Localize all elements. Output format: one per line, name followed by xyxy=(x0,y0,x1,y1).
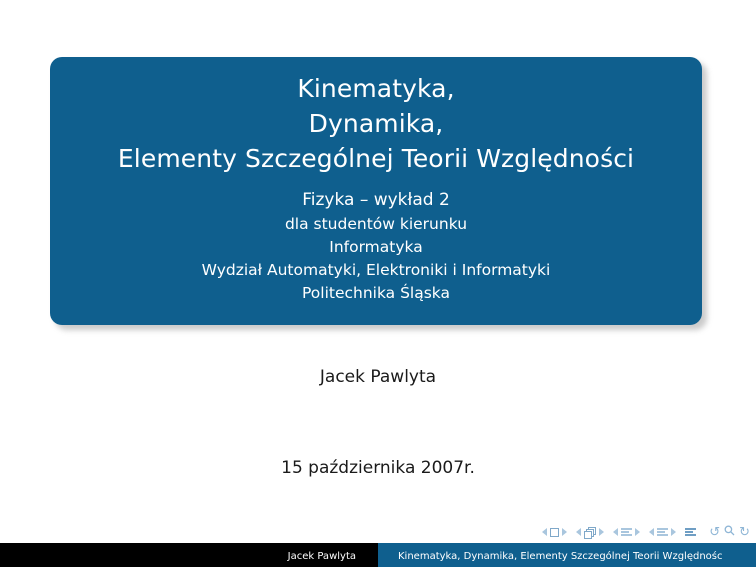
title-line-1: Kinematyka, xyxy=(50,71,702,106)
title-box: Kinematyka, Dynamika, Elementy Szczególn… xyxy=(50,57,702,325)
presentation-date: 15 października 2007r. xyxy=(0,458,756,478)
beamer-navigation-symbols[interactable]: ↺ ↻ xyxy=(542,524,750,540)
previous-frame-icon[interactable] xyxy=(576,528,581,536)
nav-group-history[interactable]: ↺ ↻ xyxy=(709,525,750,539)
subtitle-line-1: Fizyka – wykład 2 xyxy=(50,187,702,213)
title-line-3: Elementy Szczególnej Teorii Względności xyxy=(50,141,702,176)
author-name: Jacek Pawlyta xyxy=(0,367,756,387)
nav-group-subsection[interactable] xyxy=(613,528,640,536)
presentation-slide: Kinematyka, Dynamika, Elementy Szczególn… xyxy=(0,0,756,567)
next-frame-icon[interactable] xyxy=(599,528,604,536)
next-section-icon[interactable] xyxy=(671,528,676,536)
nav-group-slide[interactable] xyxy=(542,528,567,537)
nav-group-document[interactable] xyxy=(685,528,696,535)
previous-subsection-icon[interactable] xyxy=(613,528,618,536)
title-line-2: Dynamika, xyxy=(50,106,702,141)
subtitle-block: Fizyka – wykład 2 dla studentów kierunku… xyxy=(50,187,702,305)
nav-group-section[interactable] xyxy=(649,528,676,536)
forward-icon[interactable]: ↻ xyxy=(739,526,750,539)
slide-icon[interactable] xyxy=(550,528,559,537)
footer-author: Jacek Pawlyta xyxy=(0,545,378,567)
previous-slide-icon[interactable] xyxy=(542,528,547,536)
footer-title: Kinematyka, Dynamika, Elementy Szczególn… xyxy=(378,545,756,567)
frame-icon[interactable] xyxy=(584,527,596,538)
next-slide-icon[interactable] xyxy=(562,528,567,536)
subsection-icon[interactable] xyxy=(621,528,632,535)
nav-group-frame[interactable] xyxy=(576,527,604,538)
back-icon[interactable]: ↺ xyxy=(709,526,720,539)
subtitle-line-3: Informatyka xyxy=(50,236,702,259)
subtitle-line-4: Wydział Automatyki, Elektroniki i Inform… xyxy=(50,259,702,282)
section-icon[interactable] xyxy=(657,528,668,535)
document-icon[interactable] xyxy=(685,528,696,535)
subtitle-line-2: dla studentów kierunku xyxy=(50,213,702,236)
previous-section-icon[interactable] xyxy=(649,528,654,536)
subtitle-line-5: Politechnika Śląska xyxy=(50,282,702,305)
search-icon[interactable] xyxy=(724,525,735,539)
next-subsection-icon[interactable] xyxy=(635,528,640,536)
footer-bar: Jacek Pawlyta Kinematyka, Dynamika, Elem… xyxy=(0,545,756,567)
